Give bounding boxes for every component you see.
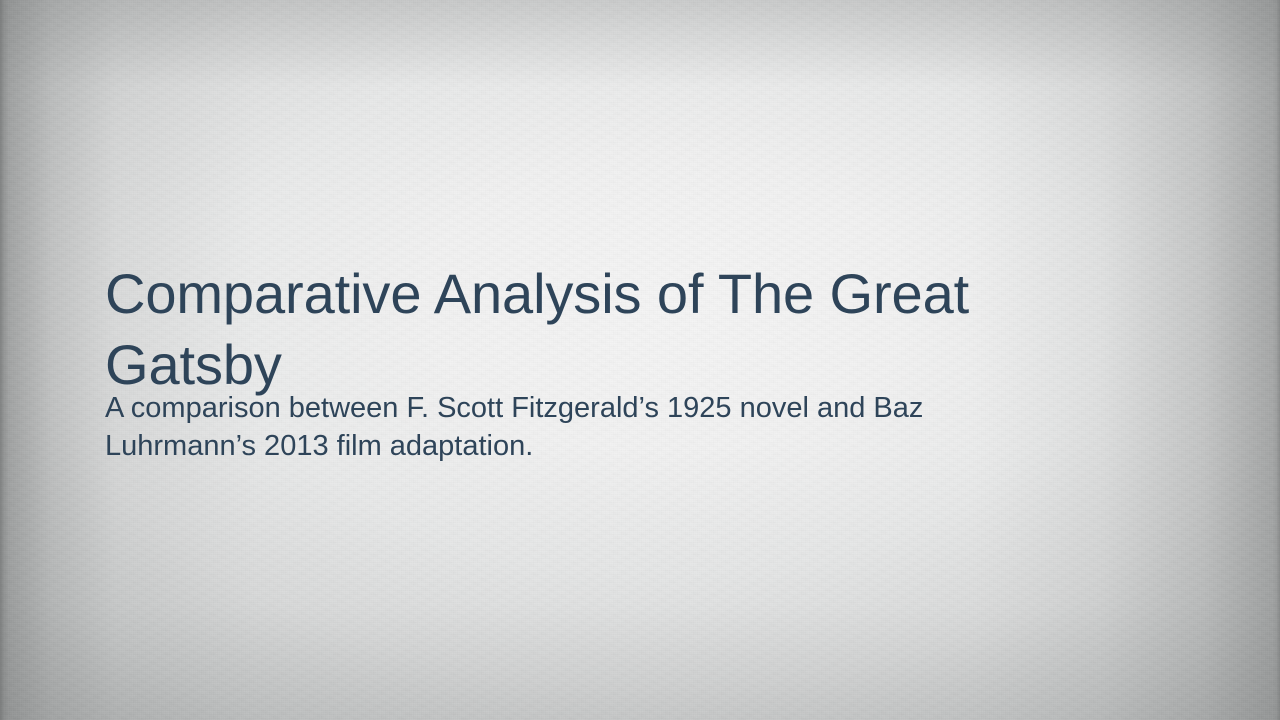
- slide-title[interactable]: Comparative Analysis of The Great Gatsby: [105, 258, 1051, 400]
- slide-text-block: Comparative Analysis of The Great Gatsby…: [105, 258, 1051, 465]
- slide-canvas: Comparative Analysis of The Great Gatsby…: [0, 0, 1280, 720]
- slide-subtitle[interactable]: A comparison between F. Scott Fitzgerald…: [105, 389, 1025, 465]
